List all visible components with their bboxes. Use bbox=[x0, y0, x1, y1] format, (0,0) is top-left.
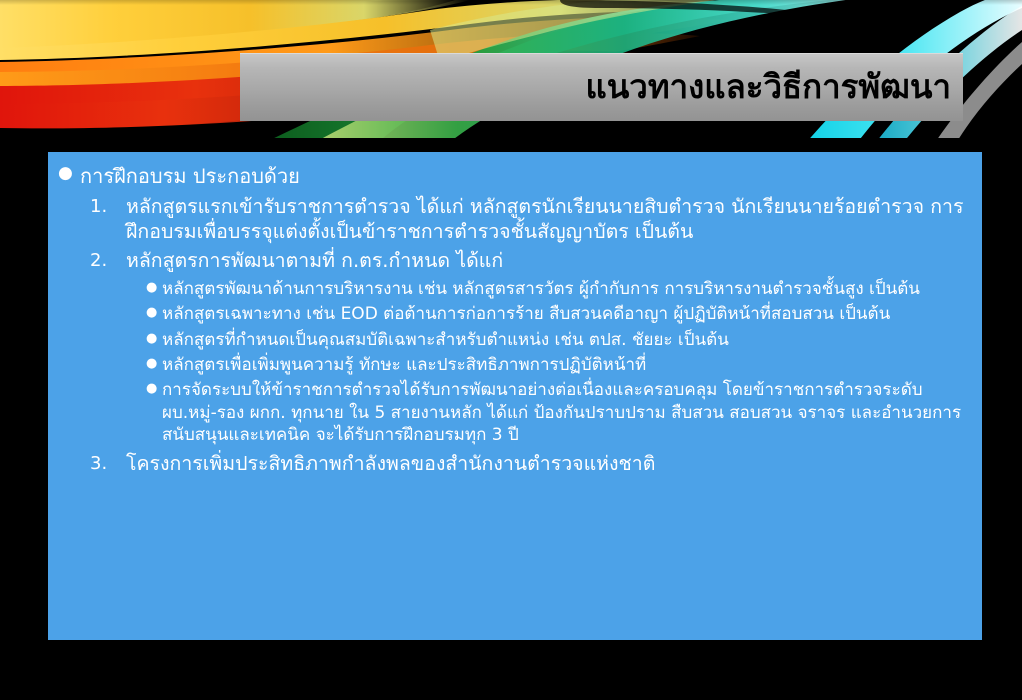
bullet-dot-icon: ● bbox=[146, 379, 162, 398]
sub-list-item-text: หลักสูตรพัฒนาด้านการบริหารงาน เช่น หลักส… bbox=[162, 278, 968, 300]
page-title: แนวทางและวิธีการพัฒนา bbox=[585, 69, 951, 105]
bullet-dot-icon: ● bbox=[146, 278, 162, 297]
bullet-dot-icon: ● bbox=[58, 164, 80, 183]
presentation-slide: แนวทางและวิธีการพัฒนา ● การฝึกอบรม ประกอ… bbox=[0, 0, 1022, 700]
sub-list-item-text: หลักสูตรที่กำหนดเป็นคุณสมบัติเฉพาะสำหรับ… bbox=[162, 329, 968, 351]
bullet-dot-icon: ● bbox=[146, 354, 162, 373]
list-item-heading: ● การฝึกอบรม ประกอบด้วย bbox=[58, 164, 968, 190]
heading-text: การฝึกอบรม ประกอบด้วย bbox=[80, 164, 968, 190]
sub-list-item-text: หลักสูตรเฉพาะทาง เช่น EOD ต่อต้านการก่อก… bbox=[162, 303, 968, 325]
bullet-dot-icon: ● bbox=[146, 303, 162, 322]
sub-list-item-4: ● หลักสูตรเพื่อเพิ่มพูนความรู้ ทักษะ และ… bbox=[58, 354, 968, 376]
list-item-numbered-2: 2. หลักสูตรการพัฒนาตามที่ ก.ตร.กำหนด ได้… bbox=[58, 248, 968, 273]
sub-list-item-text: หลักสูตรเพื่อเพิ่มพูนความรู้ ทักษะ และปร… bbox=[162, 354, 968, 376]
sub-list-item-3: ● หลักสูตรที่กำหนดเป็นคุณสมบัติเฉพาะสำหร… bbox=[58, 329, 968, 351]
list-item-numbered-1: 1. หลักสูตรแรกเข้ารับราชการตำรวจ ได้แก่ … bbox=[58, 194, 968, 245]
list-item-numbered-3: 3. โครงการเพิ่มประสิทธิภาพกำลังพลของสำนั… bbox=[58, 451, 968, 476]
content-panel: ● การฝึกอบรม ประกอบด้วย 1. หลักสูตรแรกเข… bbox=[48, 152, 982, 640]
slide-title-bar: แนวทางและวิธีการพัฒนา bbox=[240, 53, 963, 121]
bullet-dot-icon: ● bbox=[146, 329, 162, 348]
sub-list-item-2: ● หลักสูตรเฉพาะทาง เช่น EOD ต่อต้านการก่… bbox=[58, 303, 968, 325]
list-number: 3. bbox=[90, 451, 126, 475]
list-item-text: โครงการเพิ่มประสิทธิภาพกำลังพลของสำนักงา… bbox=[126, 451, 968, 476]
list-number: 2. bbox=[90, 248, 126, 272]
list-number: 1. bbox=[90, 194, 126, 218]
sub-list-item-5: ● การจัดระบบให้ข้าราชการตำรวจได้รับการพั… bbox=[58, 379, 968, 446]
sub-list-item-1: ● หลักสูตรพัฒนาด้านการบริหารงาน เช่น หลั… bbox=[58, 278, 968, 300]
sub-list-item-text: การจัดระบบให้ข้าราชการตำรวจได้รับการพัฒน… bbox=[162, 379, 968, 446]
list-item-text: หลักสูตรการพัฒนาตามที่ ก.ตร.กำหนด ได้แก่ bbox=[126, 248, 968, 273]
list-item-text: หลักสูตรแรกเข้ารับราชการตำรวจ ได้แก่ หลั… bbox=[126, 194, 968, 245]
